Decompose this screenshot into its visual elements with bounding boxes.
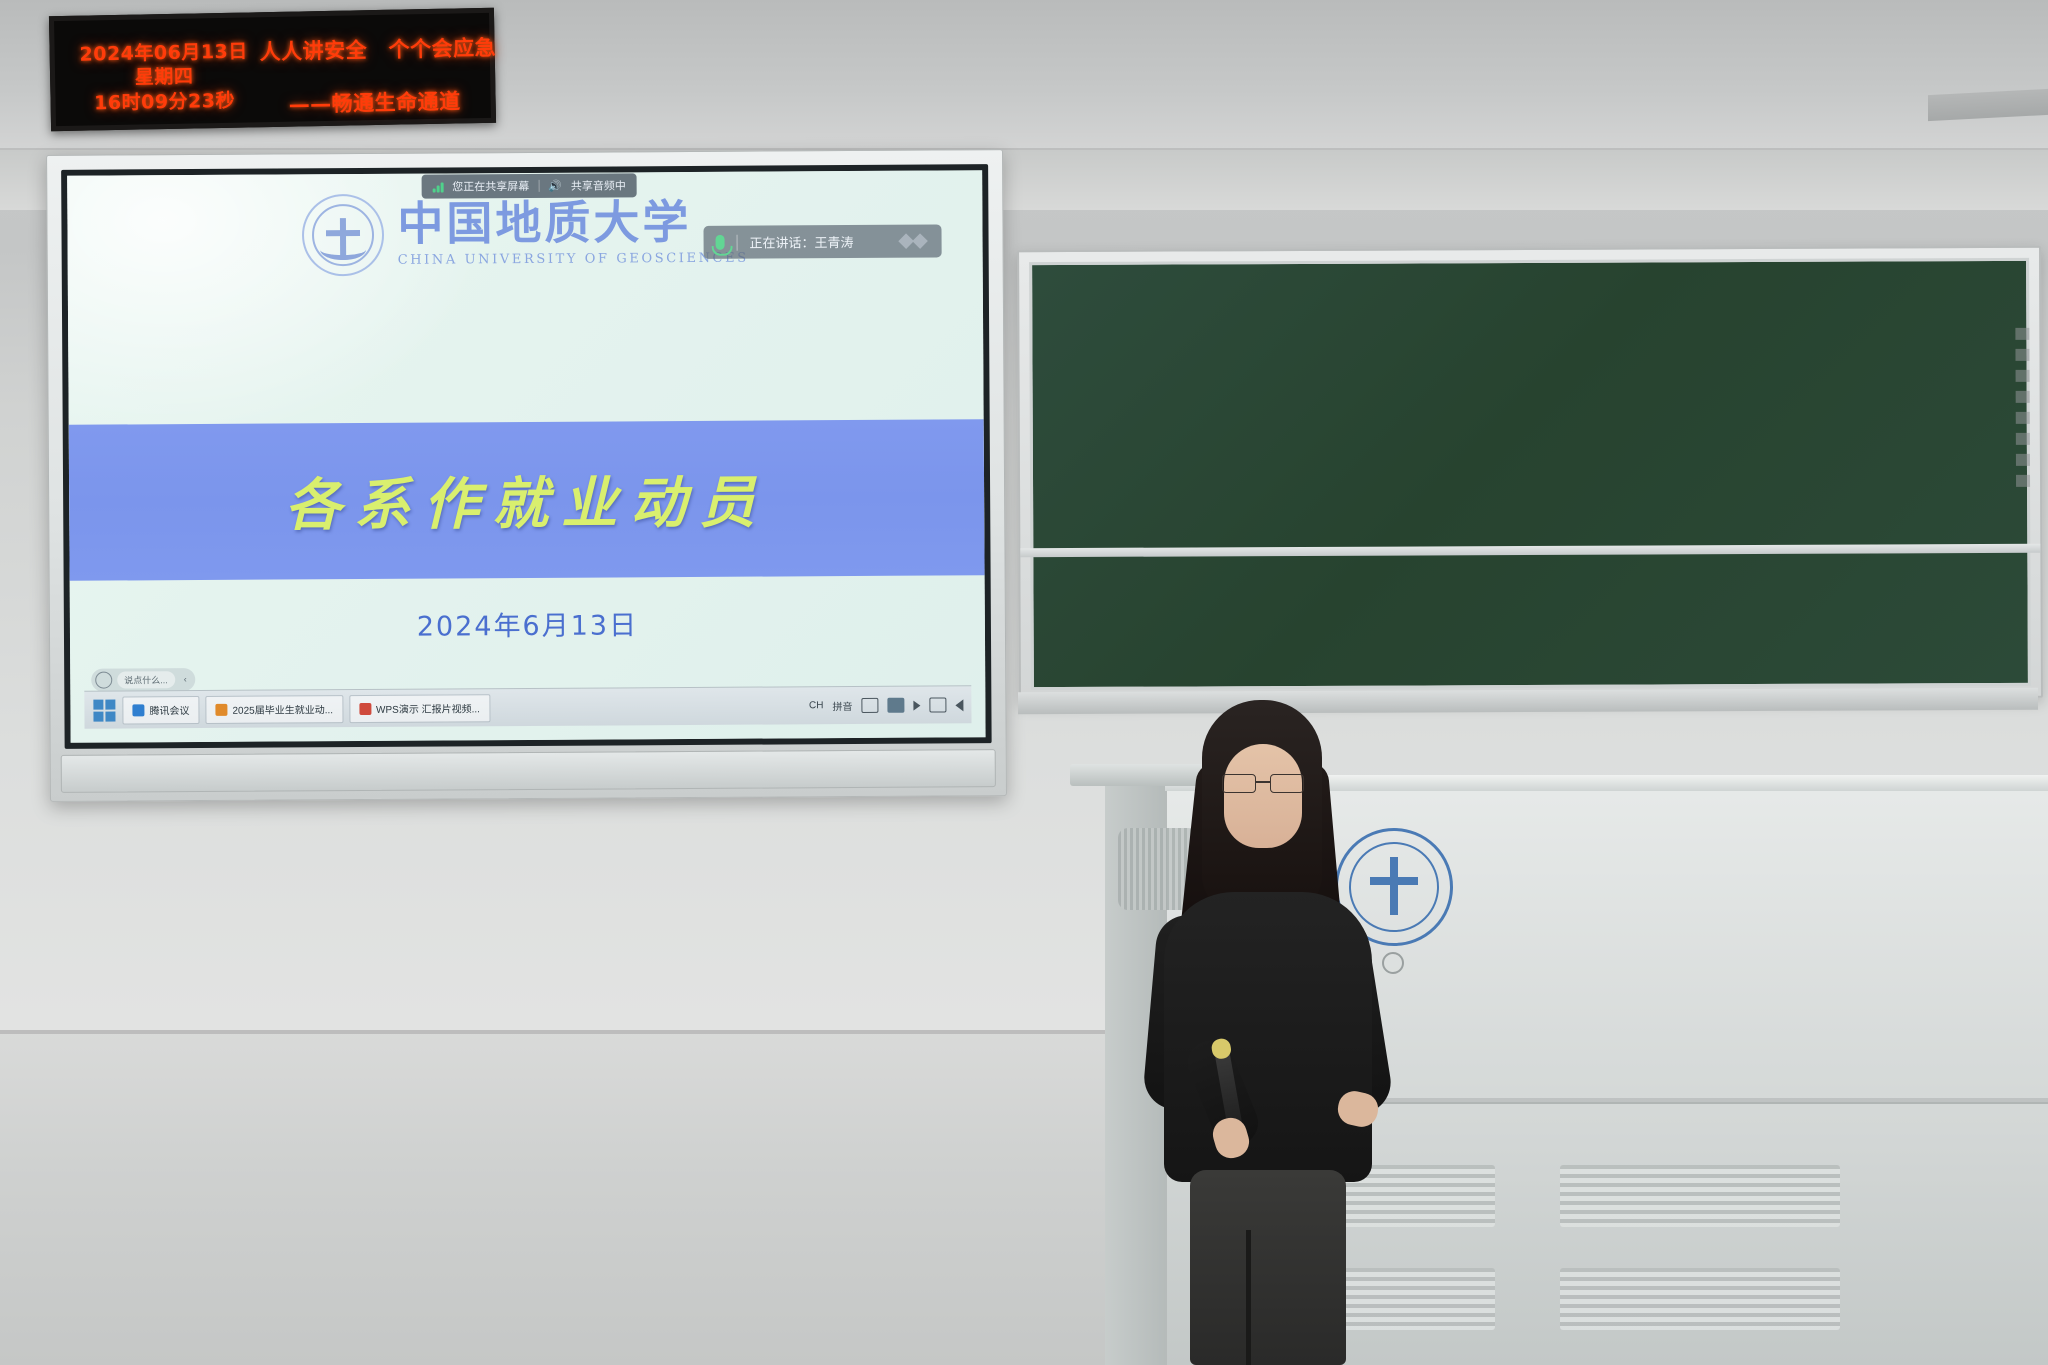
cabinet-vent	[1560, 1268, 1840, 1330]
audio-status-label: 共享音频中	[571, 177, 626, 193]
chalkboard-side-controls[interactable]	[2013, 328, 2032, 628]
chalkboard	[1017, 246, 2043, 702]
cabinet-vent	[1560, 1165, 1840, 1227]
microphone-icon	[715, 235, 724, 250]
network-icon[interactable]	[861, 698, 878, 713]
ime-indicator[interactable]: CH	[809, 700, 824, 711]
active-speaker-indicator[interactable]: 正在讲话：王青涛	[703, 225, 941, 259]
taskbar-item-tencent-meeting[interactable]: 腾讯会议	[122, 696, 199, 724]
active-speaker-label: 正在讲话：王青涛	[749, 232, 853, 252]
led-slogan-line1: 人人讲安全 个个会应急	[259, 35, 489, 66]
cabinet-vent	[1215, 1165, 1495, 1227]
taskbar-item-label: 腾讯会议	[149, 702, 189, 717]
podium-desktop	[1070, 764, 1210, 786]
camera-icon[interactable]	[929, 697, 946, 712]
screen-bezel: 您正在共享屏幕 🔊 共享音频中 中国地质大学 CHINA UNIVERSITY …	[61, 164, 992, 749]
record-icon[interactable]	[887, 698, 904, 713]
signal-bars-icon	[433, 181, 444, 192]
divider	[736, 235, 737, 251]
wps-icon	[359, 702, 371, 714]
projected-screen[interactable]: 您正在共享屏幕 🔊 共享音频中 中国地质大学 CHINA UNIVERSITY …	[67, 170, 985, 743]
cabinet-vent	[1215, 1268, 1495, 1330]
ime-mode-label[interactable]: 拼音	[832, 698, 852, 713]
slide-date: 2024年6月13日	[70, 601, 985, 646]
led-time: 16时09分23秒	[69, 88, 259, 116]
divider	[538, 180, 539, 192]
chalkboard-rail	[1018, 688, 2038, 714]
chalkboard-surface	[1029, 258, 2031, 690]
cug-seal-icon	[301, 194, 383, 276]
taskbar-item-label: 2025届毕业生就业动...	[232, 701, 333, 717]
led-marquee-sign: 2024年06月13日 星期四 16时09分23秒 人人讲安全 个个会应急 ——…	[49, 8, 496, 132]
tencent-meeting-icon	[132, 704, 144, 716]
cabinet-handle[interactable]	[1382, 952, 1404, 974]
volume-icon[interactable]	[955, 699, 963, 711]
taskbar-item-ppt[interactable]: 2025届毕业生就业动...	[205, 695, 343, 724]
taskbar-item-wps[interactable]: WPS演示 汇报片视频...	[349, 694, 490, 723]
speaker-audio-icon: 🔊	[548, 179, 562, 192]
led-weekday: 星期四	[69, 64, 259, 92]
cabinet-cug-seal-icon	[1335, 828, 1453, 946]
whiteboard-pen-tray	[61, 749, 996, 793]
chat-input-hint[interactable]: 说点什么...	[117, 671, 175, 688]
cabinet-top-edge	[1165, 775, 2048, 791]
interactive-whiteboard[interactable]: 您正在共享屏幕 🔊 共享音频中 中国地质大学 CHINA UNIVERSITY …	[46, 149, 1007, 802]
university-name-cn: 中国地质大学	[397, 199, 748, 247]
drag-handle-icon[interactable]	[900, 236, 925, 247]
ppt-icon	[215, 703, 227, 715]
led-date: 2024年06月13日	[68, 39, 258, 67]
presentation-slide: 您正在共享屏幕 🔊 共享音频中 中国地质大学 CHINA UNIVERSITY …	[67, 170, 985, 743]
led-slogan-line2: ——畅通生命通道	[260, 88, 490, 119]
start-button[interactable]	[92, 698, 116, 722]
windows-taskbar[interactable]: 腾讯会议 2025届毕业生就业动... WPS演示 汇报片视频... CH	[84, 685, 971, 728]
taskbar-item-label: WPS演示 汇报片视频...	[376, 700, 480, 716]
university-name-en: CHINA UNIVERSITY OF GEOSCIENCES	[398, 251, 749, 268]
classroom-photo-scene: 2024年06月13日 星期四 16时09分23秒 人人讲安全 个个会应急 ——…	[0, 0, 2048, 1365]
slide-title: 各系作就业动员	[69, 457, 984, 544]
share-icon[interactable]	[913, 700, 920, 710]
university-logo-block: 中国地质大学 CHINA UNIVERSITY OF GEOSCIENCES	[301, 191, 749, 276]
meeting-floating-toolbar[interactable]: 说点什么... ‹	[91, 668, 195, 692]
system-tray[interactable]: CH 拼音	[809, 697, 964, 713]
podium-speaker-grille	[1118, 828, 1198, 910]
collapse-icon[interactable]: ‹	[180, 675, 191, 685]
chat-icon[interactable]	[95, 672, 112, 689]
